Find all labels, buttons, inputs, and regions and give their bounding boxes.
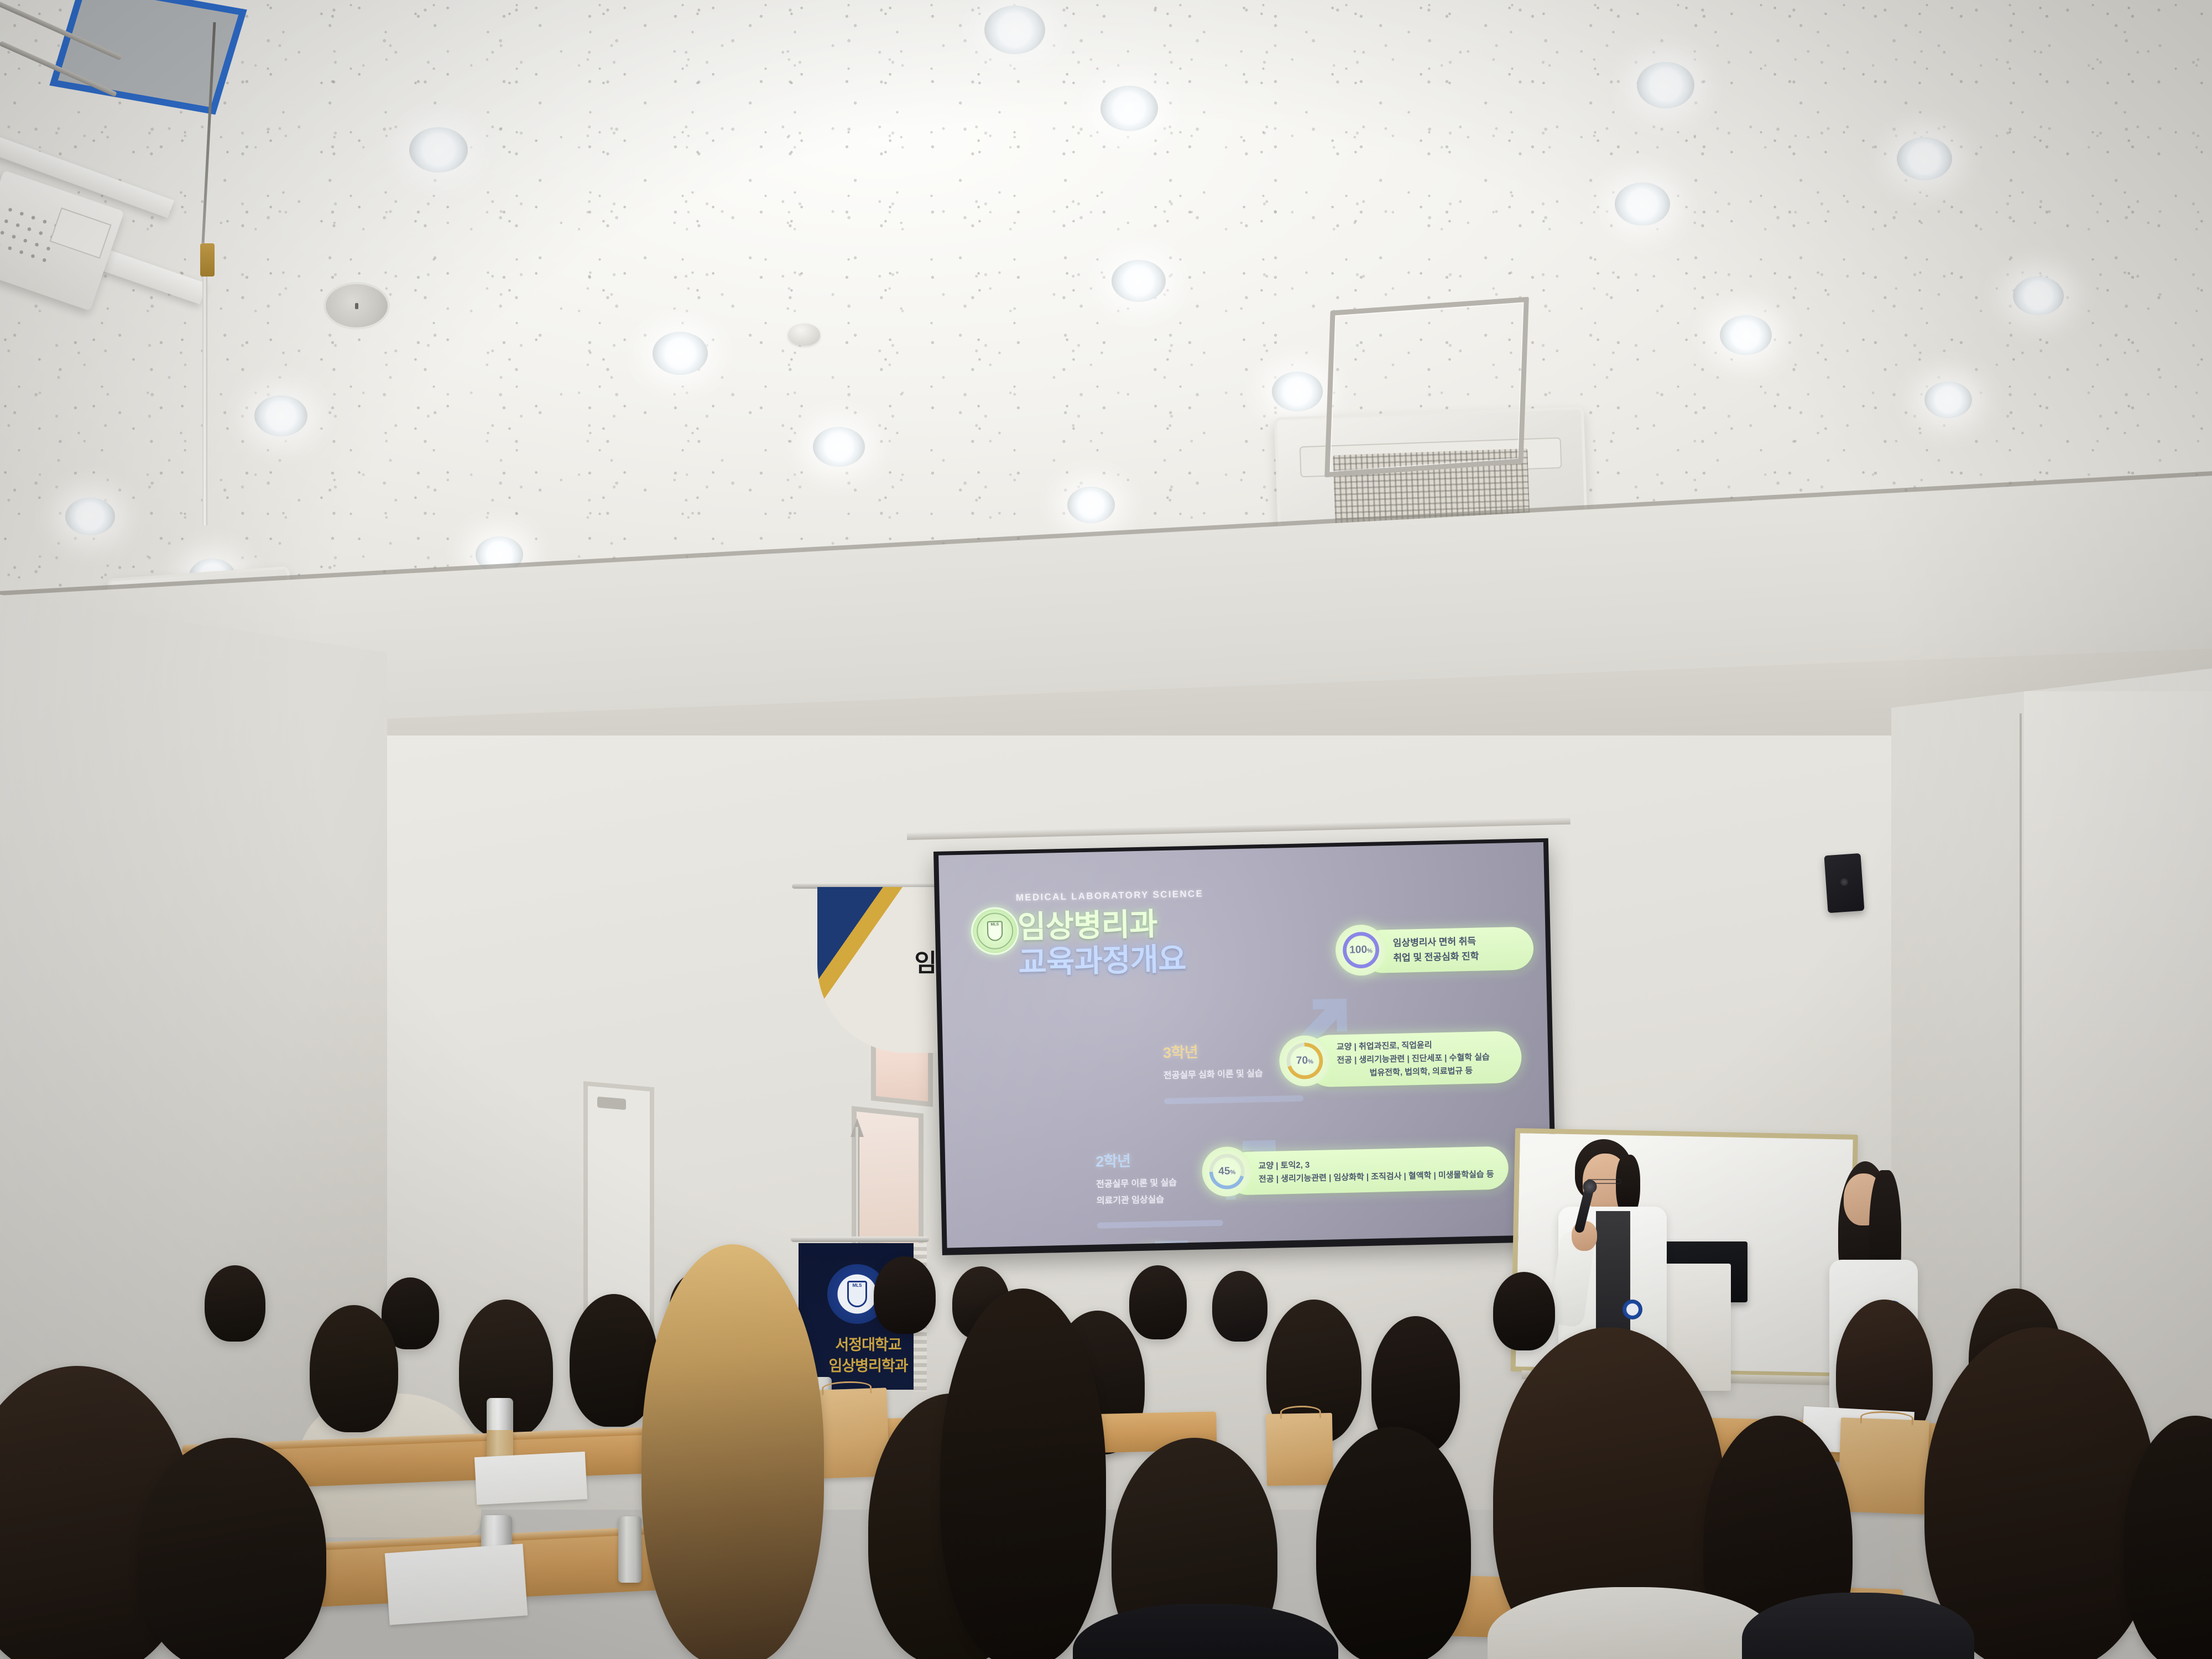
smoke-detector-icon — [788, 324, 820, 346]
progress-arrow-icon — [1133, 1237, 1195, 1248]
goal-pill: 임상병리사 면허 취득 취업 및 전공심화 진학 — [1360, 926, 1534, 973]
audience-head — [874, 1256, 936, 1334]
projector-label — [49, 207, 111, 259]
ceiling-downlight — [1637, 62, 1694, 108]
audience-head-foreground — [1924, 1327, 2157, 1659]
lecture-hall-scene: 임 MEDICAL LABORATORY SCIENCE MLS 임상병리과 교… — [0, 0, 2212, 1659]
presentation-slide: MEDICAL LABORATORY SCIENCE MLS 임상병리과 교육과… — [938, 842, 1552, 1248]
audience-head — [205, 1265, 265, 1342]
ceiling-downlight — [1067, 487, 1115, 523]
screen-hanger-rod — [202, 276, 207, 525]
step-year-3: 3학년 — [1163, 1040, 1198, 1062]
pennant-pole — [855, 1127, 859, 1243]
step-underline — [1164, 1095, 1303, 1104]
wall-banner-text: 임 — [915, 952, 937, 974]
step-desc-2: 전공실무 이론 및 실습 — [1096, 1177, 1177, 1192]
ceiling-downlight — [1720, 315, 1772, 355]
step-year-2: 2학년 — [1095, 1149, 1131, 1171]
audience-head-foreground — [1316, 1427, 1471, 1659]
goal-line: 취업 및 전공심화 진학 — [1393, 948, 1517, 966]
step-underline — [1097, 1220, 1223, 1229]
step-percent-value-3: 70% — [1296, 1055, 1313, 1067]
step-desc-2b: 의료기관 임상실습 — [1097, 1193, 1165, 1208]
gift-bag[interactable] — [1838, 1417, 1929, 1514]
ceiling-downlight — [984, 6, 1045, 54]
step-percent-value-2: 45% — [1218, 1165, 1235, 1178]
pennant-rod — [791, 1237, 929, 1242]
handout-paper[interactable] — [474, 1452, 587, 1505]
ceiling-downlight — [1112, 260, 1166, 302]
ceiling-downlight — [653, 332, 708, 375]
tumbler[interactable] — [618, 1516, 641, 1583]
projection-screen: MEDICAL LABORATORY SCIENCE MLS 임상병리과 교육과… — [933, 838, 1557, 1255]
ceiling-downlight — [409, 127, 468, 173]
seal-shield-text: MLS — [847, 1281, 867, 1307]
audience-head-foreground — [641, 1244, 824, 1659]
ceiling-downlight — [813, 427, 865, 467]
projection-screen-surface: MEDICAL LABORATORY SCIENCE MLS 임상병리과 교육과… — [938, 842, 1552, 1248]
step-desc-3: 전공실무 심화 이론 및 실습 — [1164, 1067, 1263, 1083]
ceiling-access-hatch — [1324, 297, 1529, 478]
audience-head-foreground — [138, 1438, 326, 1659]
audience-head — [1493, 1272, 1555, 1350]
inner-shirt — [1596, 1211, 1630, 1338]
step-percent-ring-1: 20% — [1130, 1248, 1180, 1248]
ceiling-downlight — [1924, 382, 1972, 418]
goal-percent-value: 100% — [1349, 944, 1373, 957]
step-pill-3: 교양 | 취업과진로, 직업윤리 전공 | 생리기능관련 | 진단세포 | 수혈… — [1304, 1031, 1522, 1088]
gift-bag[interactable] — [1266, 1413, 1333, 1486]
handout-paper[interactable] — [385, 1543, 528, 1625]
step-pill-2: 교양 | 토익2, 3 전공 | 생리기능관련 | 임상화학 | 조직검사 | … — [1226, 1146, 1509, 1195]
audience-head — [310, 1305, 398, 1432]
pennant-line2: 임상병리학과 — [813, 1354, 924, 1375]
ceiling-downlight — [65, 498, 115, 535]
ceiling-downlight — [1897, 137, 1952, 180]
slide-title-line2: 교육과정개요 — [1018, 934, 1186, 983]
audience-head — [1129, 1265, 1187, 1339]
lab-coat-logo — [1623, 1300, 1642, 1319]
ceiling-downlight — [254, 395, 307, 436]
pennant-line1: 서정대학교 — [813, 1333, 924, 1354]
wall-speaker — [1824, 853, 1864, 913]
crest-shield-text: MLS — [987, 921, 1003, 941]
screen-hanger-clip — [200, 243, 215, 276]
audience-head — [1212, 1271, 1267, 1342]
ceiling-downlight — [1100, 86, 1158, 131]
audience-head-foreground — [940, 1288, 1106, 1659]
ceiling-downlight — [1272, 372, 1323, 411]
ceiling-speaker — [324, 282, 390, 330]
department-crest-icon: MLS — [971, 907, 1019, 956]
ceiling-downlight — [2013, 276, 2064, 315]
ceiling-downlight — [1615, 182, 1670, 226]
audience-shoulders — [1073, 1604, 1338, 1659]
